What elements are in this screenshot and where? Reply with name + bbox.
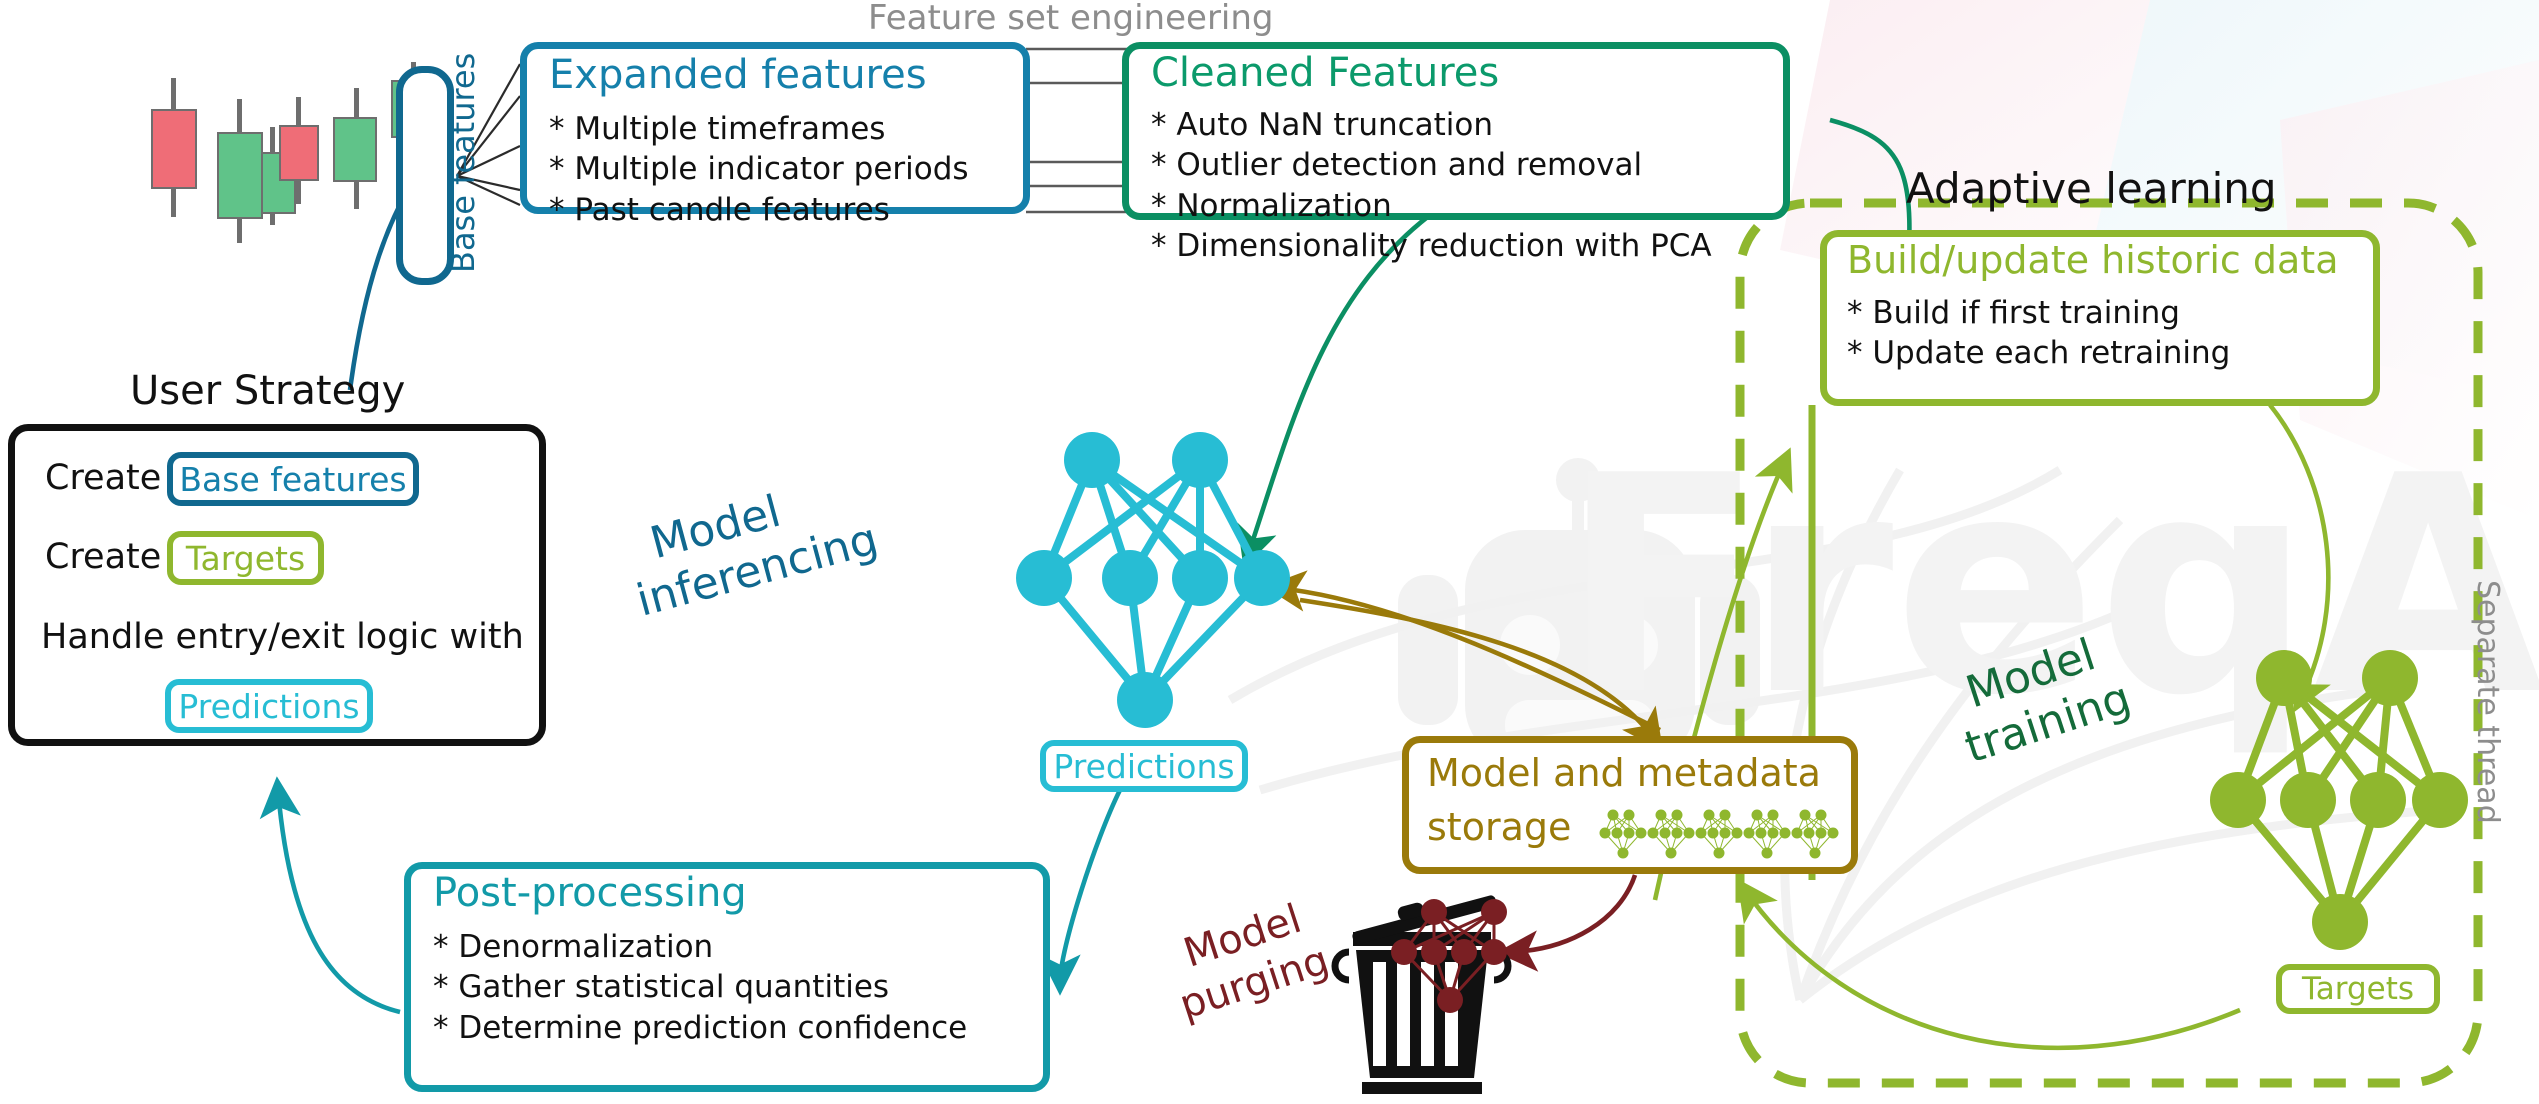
targets-pill-training[interactable]: Targets xyxy=(2276,964,2440,1014)
targets-pill-training-label: Targets xyxy=(2302,971,2414,1007)
diagram-canvas: FreqAI xyxy=(0,0,2539,1104)
training-neural-network xyxy=(0,0,2539,1104)
